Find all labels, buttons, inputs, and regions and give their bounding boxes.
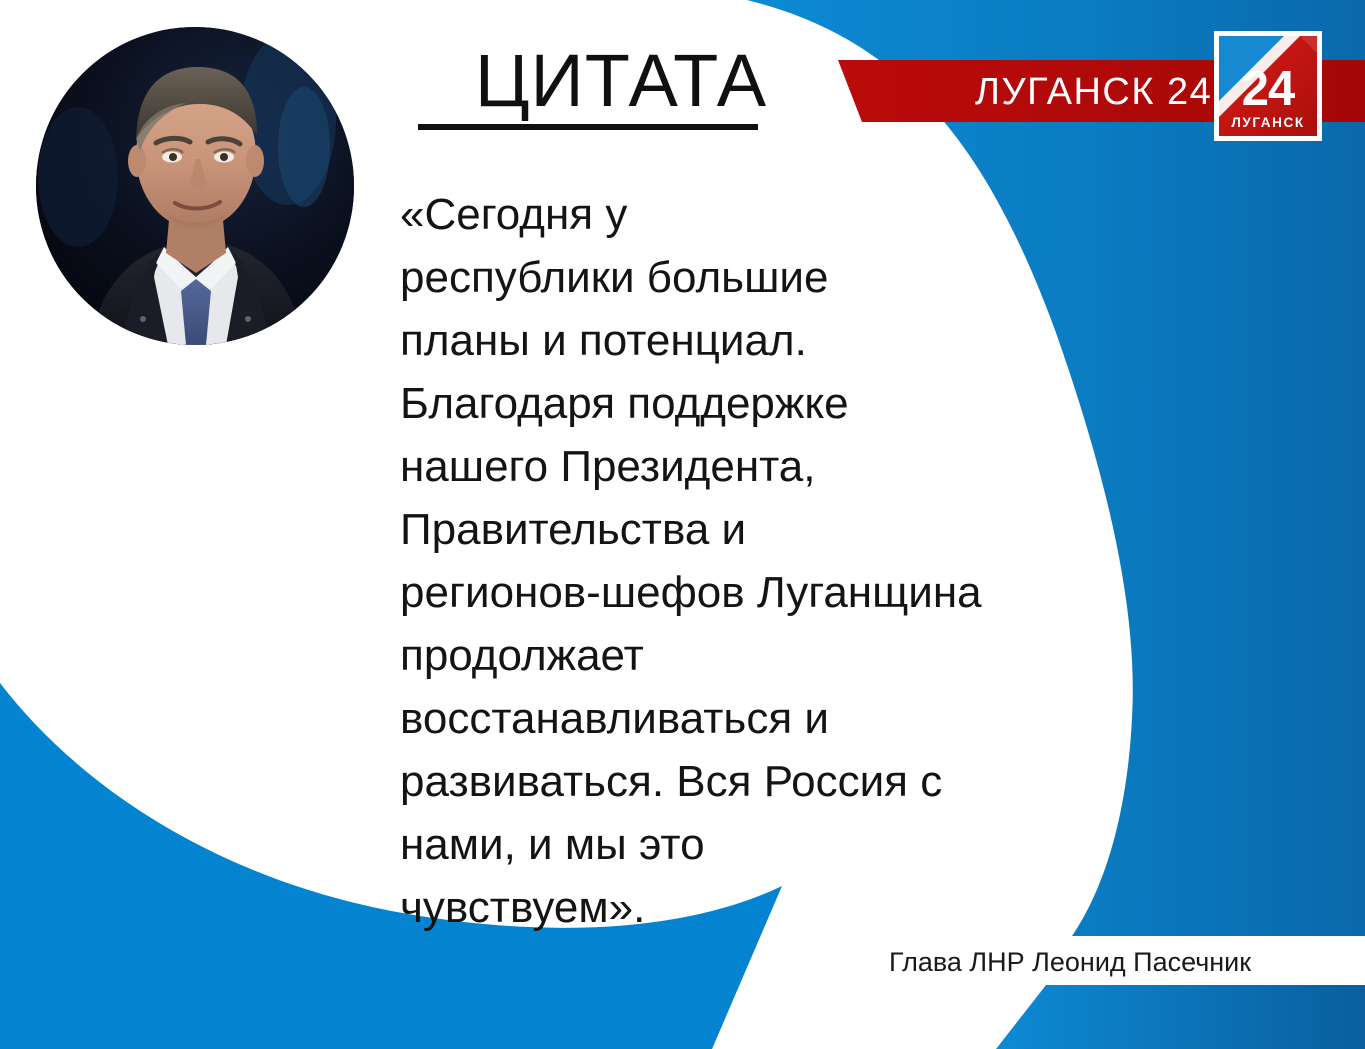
lugansk-24-logo-icon: 24 ЛУГАНСК (1214, 31, 1322, 141)
channel-logo: 24 ЛУГАНСК (1214, 31, 1322, 141)
person-portrait-icon (36, 27, 354, 345)
quote-text: «Сегодня у республики большие планы и по… (400, 183, 1030, 939)
attribution-caption: Глава ЛНР Леонид Пасечник (889, 945, 1251, 979)
svg-text:ЛУГАНСК: ЛУГАНСК (1231, 115, 1304, 130)
page-title: ЦИТАТА (404, 42, 824, 120)
avatar (36, 27, 354, 345)
headline-block: ЦИТАТА (404, 42, 824, 130)
quote-card: ЦИТАТА «Сегодня у республики большие пла… (0, 0, 1365, 1049)
title-underline (418, 124, 758, 130)
channel-banner-label: ЛУГАНСК 24 (975, 66, 1212, 118)
blue-bottom-right-strip (996, 985, 1365, 1049)
svg-text:24: 24 (1242, 62, 1295, 116)
